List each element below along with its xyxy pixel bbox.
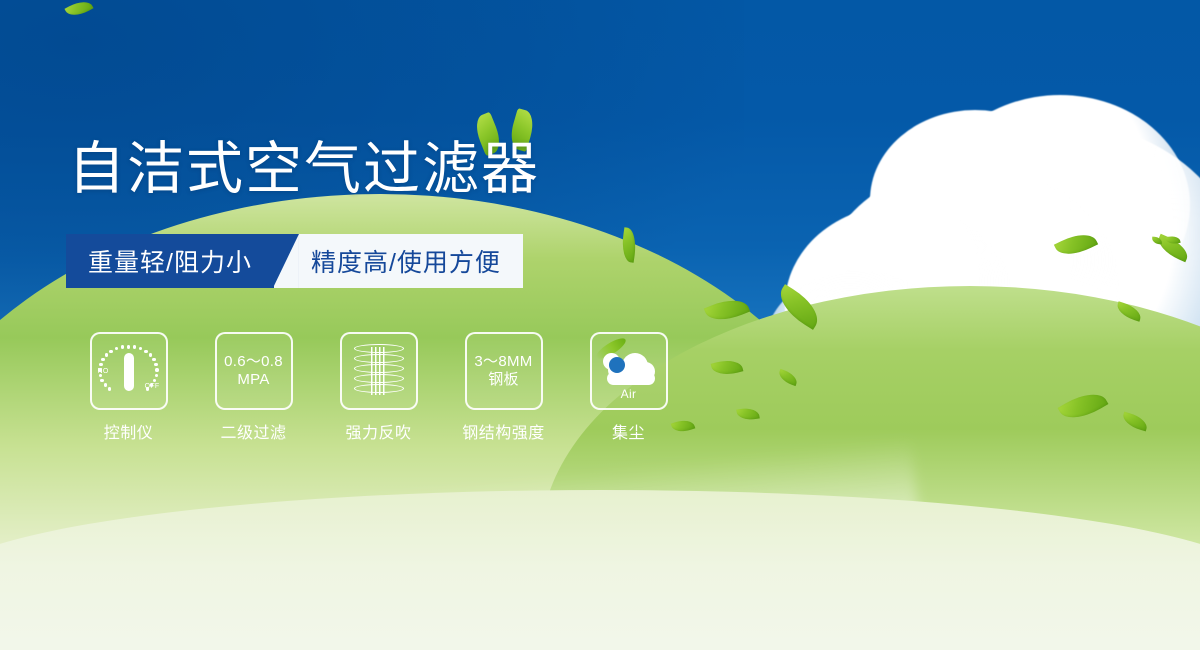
feature-caption: 钢结构强度 [462, 419, 545, 443]
gauge-needle-icon [124, 353, 134, 391]
feature-item-dust-collection[interactable]: Air 集尘 [566, 332, 691, 443]
feature-icon-box: 0.6～0.8 MPA [215, 332, 293, 410]
gauge-label-off: OFF [145, 383, 160, 390]
feature-icon-box [340, 332, 418, 410]
feature-icon-box: 3～8MM 钢板 [465, 332, 543, 410]
filter-cartridge-icon [354, 343, 404, 399]
feature-list: NO OFF 控制仪 0.6～0.8 MPA 二级过滤 [66, 332, 691, 443]
subtitle-strip: 重量轻/阻力小 精度高/使用方便 [66, 234, 523, 288]
feature-icon-box: Air [590, 332, 668, 410]
cloud-base-icon [607, 372, 655, 385]
pressure-text-icon: 0.6～0.8 MPA [224, 353, 283, 388]
subtitle-left-text: 重量轻/阻力小 [66, 234, 274, 288]
gauge-label-no: NO [98, 368, 109, 375]
feature-caption: 二级过滤 [220, 419, 286, 443]
sun-cutout [609, 357, 625, 373]
feature-item-back-blow[interactable]: 强力反吹 [316, 332, 441, 443]
steel-plate-text-icon: 3～8MM 钢板 [474, 353, 532, 388]
air-label: Air [598, 387, 660, 401]
feature-caption: 集尘 [612, 419, 645, 443]
feature-caption: 控制仪 [104, 419, 154, 443]
subtitle-divider [273, 234, 299, 288]
air-cloud-icon: Air [598, 345, 660, 397]
product-hero-banner: 自洁式空气过滤器 重量轻/阻力小 精度高/使用方便 [0, 0, 1200, 650]
feature-item-steel-strength[interactable]: 3～8MM 钢板 钢结构强度 [441, 332, 566, 443]
feature-item-controller[interactable]: NO OFF 控制仪 [66, 332, 191, 443]
feature-text-line2: 钢板 [474, 371, 532, 389]
banner-content: 自洁式空气过滤器 重量轻/阻力小 精度高/使用方便 [0, 0, 1200, 650]
feature-caption: 强力反吹 [345, 419, 411, 443]
feature-text-line1: 3～8MM [474, 353, 532, 370]
feature-icon-box: NO OFF [90, 332, 168, 410]
feature-text-line2: MPA [224, 371, 283, 389]
page-title: 自洁式空气过滤器 [68, 140, 540, 200]
feature-text-line1: 0.6～0.8 [224, 353, 283, 370]
subtitle-right-text: 精度高/使用方便 [299, 234, 523, 288]
feature-item-two-stage-filter[interactable]: 0.6～0.8 MPA 二级过滤 [191, 332, 316, 443]
gauge-icon: NO OFF [98, 342, 160, 400]
